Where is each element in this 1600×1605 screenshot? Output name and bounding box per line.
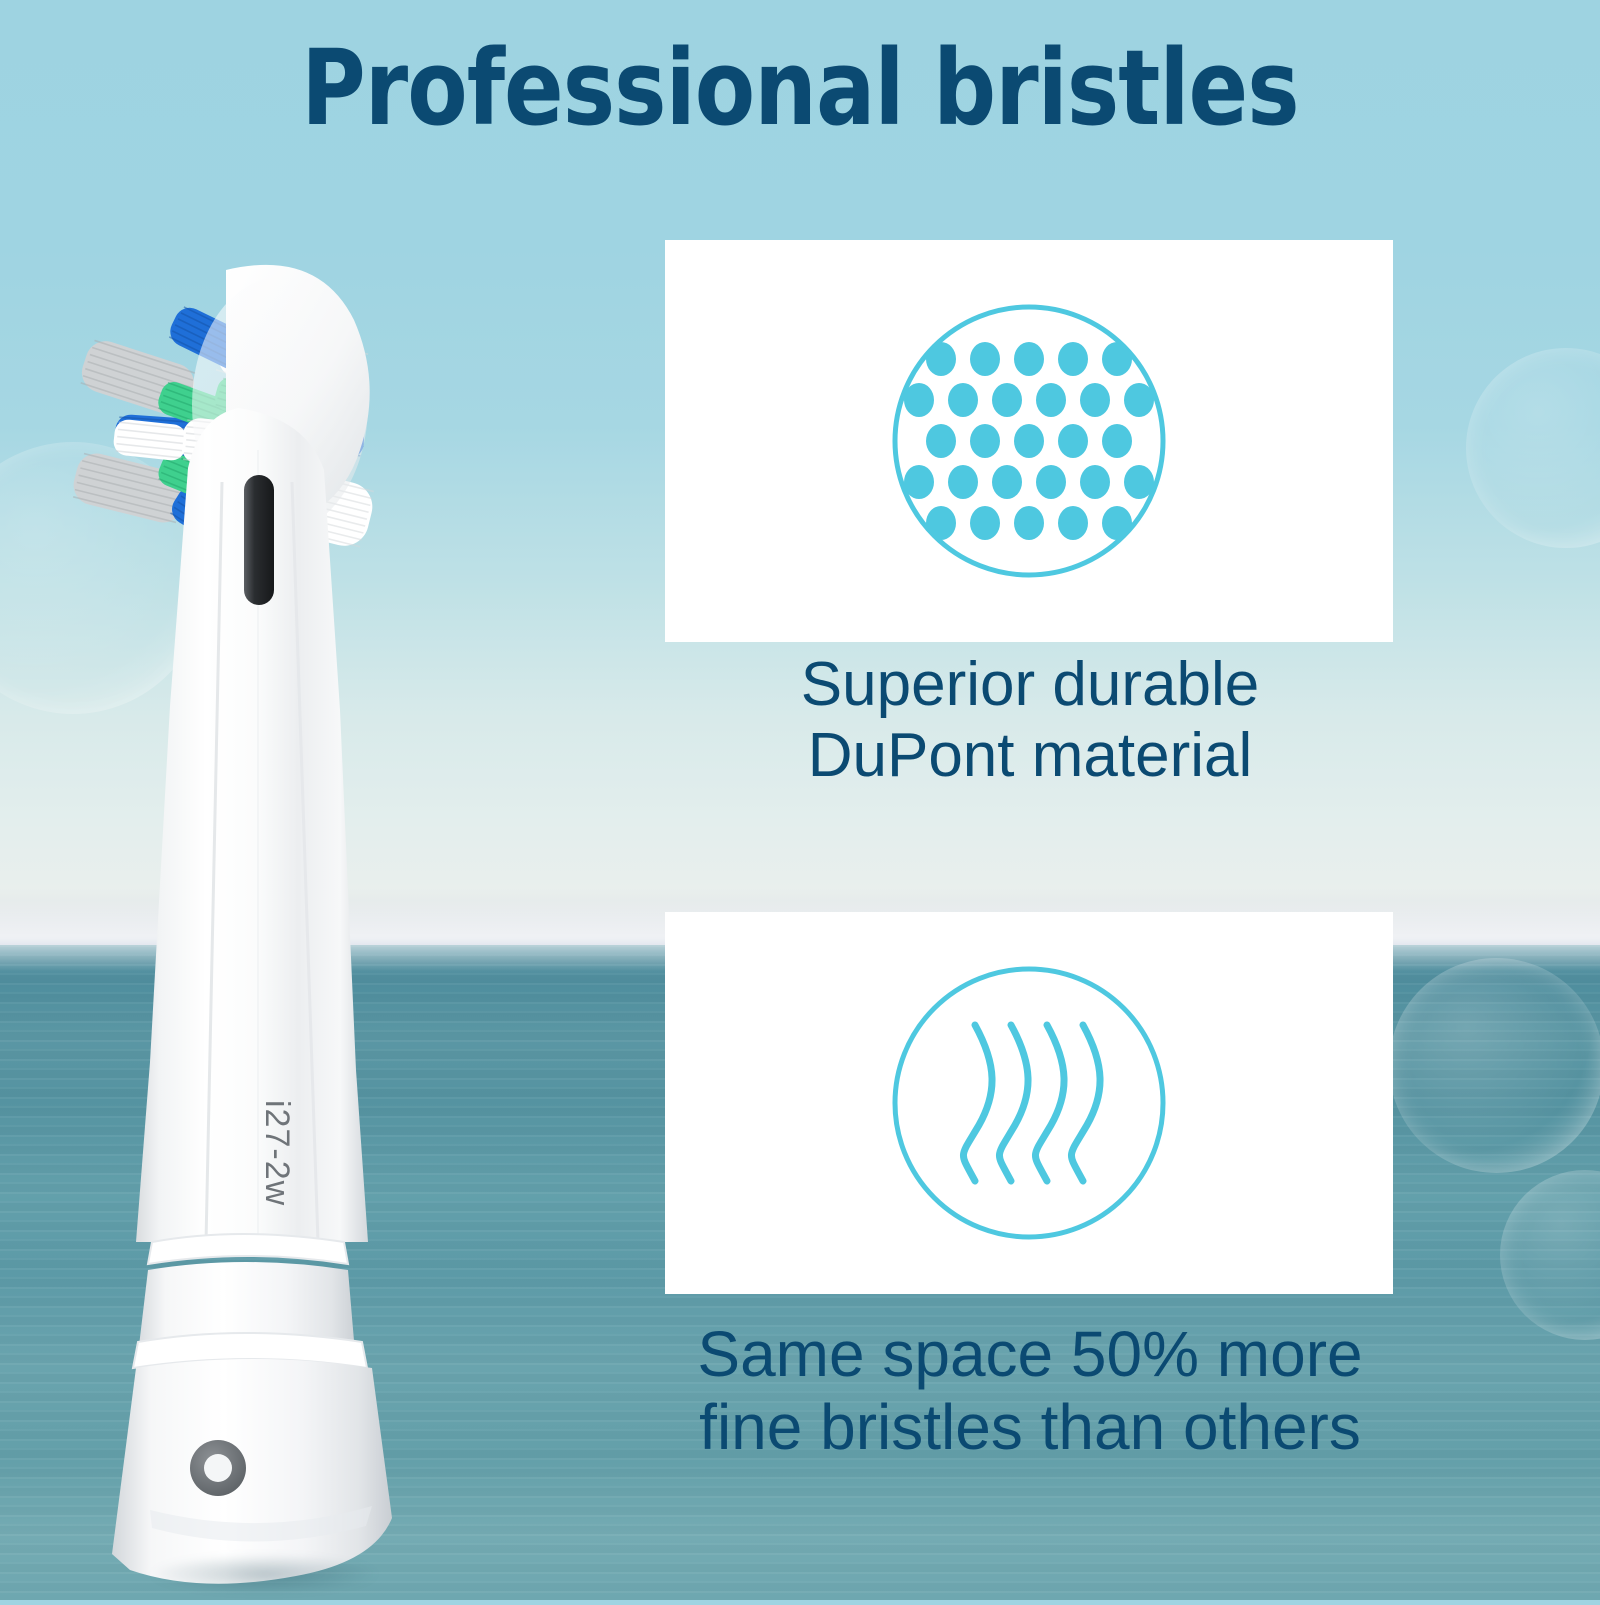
caption-line-1: Same space 50% more <box>560 1318 1500 1391</box>
brush-neck-slot <box>244 475 274 605</box>
model-code-label: i27-2w <box>258 1100 296 1206</box>
dot-grid-circle-icon <box>665 240 1393 642</box>
page-title: Professional bristles <box>48 34 1552 143</box>
wavy-lines-circle-icon <box>665 912 1393 1294</box>
feature-caption-density: Same space 50% more fine bristles than o… <box>560 1318 1500 1464</box>
brush-base-cuff <box>112 1359 392 1584</box>
caption-line-2: fine bristles than others <box>560 1391 1500 1464</box>
feature-panel-material <box>665 240 1393 642</box>
brush-base-oring-icon <box>190 1440 246 1496</box>
brush-collar-ring-top <box>148 1234 348 1264</box>
caption-line-2: DuPont material <box>620 721 1440 792</box>
feature-panel-density <box>665 912 1393 1294</box>
caption-line-1: Superior durable <box>620 650 1440 721</box>
soap-bubble-icon <box>1389 958 1600 1173</box>
feature-caption-material: Superior durable DuPont material <box>620 650 1440 791</box>
replacement-toothbrush-head: i27-2w <box>30 150 450 1600</box>
brush-drop-shadow <box>148 1554 380 1594</box>
